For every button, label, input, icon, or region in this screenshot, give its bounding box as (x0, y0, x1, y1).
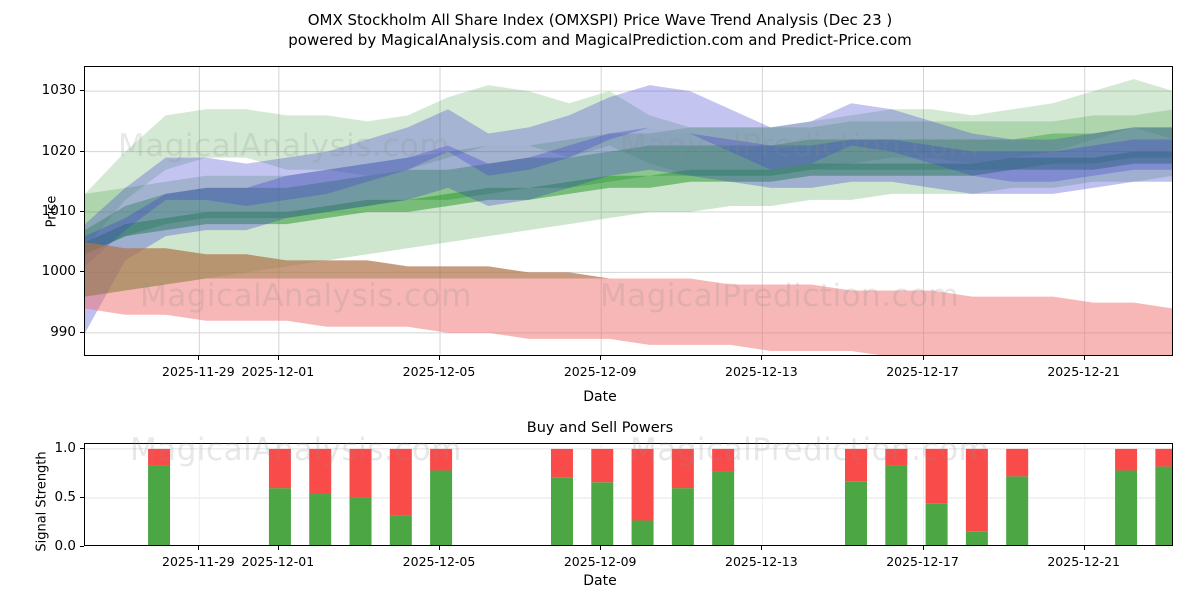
power-bar (390, 449, 412, 546)
price-y-axis-label: Price (45, 152, 60, 272)
power-bar (1115, 449, 1137, 546)
power-bar (148, 449, 170, 546)
buy-power-segment (350, 498, 372, 546)
sell-power-segment (390, 449, 412, 516)
buy-power-segment (269, 488, 291, 546)
title-line-2: powered by MagicalAnalysis.com and Magic… (0, 30, 1200, 50)
power-bar (845, 449, 867, 546)
price-x-tick-label: 2025-12-13 (725, 364, 798, 379)
power-chart-title: Buy and Sell Powers (0, 420, 1200, 436)
price-y-tick-mark (80, 271, 84, 272)
price-x-tick-mark (761, 356, 762, 360)
sell-power-segment (148, 449, 170, 466)
price-x-tick-label: 2025-12-01 (242, 364, 315, 379)
sell-power-segment (672, 449, 694, 488)
sell-power-segment (551, 449, 573, 477)
sell-power-segment (885, 449, 907, 466)
buy-power-segment (966, 531, 988, 546)
power-x-tick-label: 2025-12-13 (725, 554, 798, 569)
sell-power-segment (845, 449, 867, 481)
power-x-tick-mark (761, 546, 762, 550)
buy-power-segment (1006, 476, 1028, 546)
price-y-tick-mark (80, 151, 84, 152)
power-x-tick-mark (439, 546, 440, 550)
buy-power-segment (672, 488, 694, 546)
power-bar (269, 449, 291, 546)
buy-power-segment (1115, 470, 1137, 546)
price-x-tick-label: 2025-12-09 (564, 364, 637, 379)
power-x-tick-mark (1084, 546, 1085, 550)
chart-page: OMX Stockholm All Share Index (OMXSPI) P… (0, 0, 1200, 600)
power-x-tick-label: 2025-12-05 (403, 554, 476, 569)
buy-power-segment (1155, 467, 1173, 546)
power-x-tick-label: 2025-12-21 (1047, 554, 1120, 569)
sell-power-segment (591, 449, 613, 482)
buy-power-segment (712, 471, 734, 546)
price-y-tick-mark (80, 90, 84, 91)
price-band-layer (85, 67, 1173, 356)
sell-power-segment (926, 449, 948, 504)
power-x-axis-label: Date (0, 573, 1200, 589)
power-bar (885, 449, 907, 546)
power-bar (309, 449, 331, 546)
power-bar (926, 449, 948, 546)
sell-power-segment (350, 449, 372, 498)
price-y-tick-label: 990 (16, 324, 76, 340)
price-x-tick-mark (278, 356, 279, 360)
price-y-tick-mark (80, 211, 84, 212)
power-bar (551, 449, 573, 546)
price-x-tick-label: 2025-12-17 (886, 364, 959, 379)
buy-power-segment (926, 504, 948, 546)
sell-power-segment (1006, 449, 1028, 476)
power-x-tick-label: 2025-12-09 (564, 554, 637, 569)
power-x-tick-mark (923, 546, 924, 550)
price-x-tick-label: 2025-11-29 (162, 364, 235, 379)
sell-power-segment (712, 449, 734, 472)
sell-power-segment (269, 449, 291, 488)
price-x-tick-mark (439, 356, 440, 360)
power-y-tick-mark (80, 546, 84, 547)
power-bar (430, 449, 452, 546)
page-title: OMX Stockholm All Share Index (OMXSPI) P… (0, 10, 1200, 50)
price-y-tick-label: 1030 (16, 82, 76, 98)
sell-power-segment (1155, 449, 1173, 467)
buy-power-segment (591, 482, 613, 546)
power-y-axis-label: Signal Strength (35, 422, 50, 582)
price-x-tick-mark (198, 356, 199, 360)
price-x-tick-mark (600, 356, 601, 360)
power-bar-layer (85, 444, 1173, 546)
price-x-tick-label: 2025-12-21 (1047, 364, 1120, 379)
power-x-tick-mark (278, 546, 279, 550)
sell-power-segment (966, 449, 988, 531)
buy-power-segment (430, 470, 452, 546)
power-chart-plot-area (84, 443, 1173, 546)
buy-power-segment (551, 477, 573, 546)
power-x-tick-mark (600, 546, 601, 550)
buy-power-segment (845, 481, 867, 546)
buy-power-segment (885, 466, 907, 546)
price-chart-plot-area (84, 66, 1173, 356)
power-y-tick-mark (80, 448, 84, 449)
price-x-tick-label: 2025-12-05 (403, 364, 476, 379)
power-bar (1006, 449, 1028, 546)
buy-power-segment (390, 516, 412, 546)
power-bar (350, 449, 372, 546)
power-bar (591, 449, 613, 546)
power-bar (712, 449, 734, 546)
sell-power-segment (309, 449, 331, 494)
power-x-tick-label: 2025-12-17 (886, 554, 959, 569)
power-bar (1155, 449, 1173, 546)
price-x-tick-mark (1084, 356, 1085, 360)
power-x-tick-mark (198, 546, 199, 550)
buy-power-segment (309, 494, 331, 546)
power-bar (632, 449, 654, 546)
buy-power-segment (148, 466, 170, 546)
buy-power-segment (632, 521, 654, 546)
power-x-tick-label: 2025-11-29 (162, 554, 235, 569)
price-x-tick-mark (923, 356, 924, 360)
power-bar (966, 449, 988, 546)
sell-power-segment (1115, 449, 1137, 471)
power-x-tick-label: 2025-12-01 (242, 554, 315, 569)
sell-power-segment (430, 449, 452, 471)
sell-power-segment (632, 449, 654, 521)
price-y-tick-mark (80, 332, 84, 333)
price-x-axis-label: Date (0, 389, 1200, 405)
power-y-tick-mark (80, 497, 84, 498)
title-line-1: OMX Stockholm All Share Index (OMXSPI) P… (0, 10, 1200, 30)
power-bar (672, 449, 694, 546)
